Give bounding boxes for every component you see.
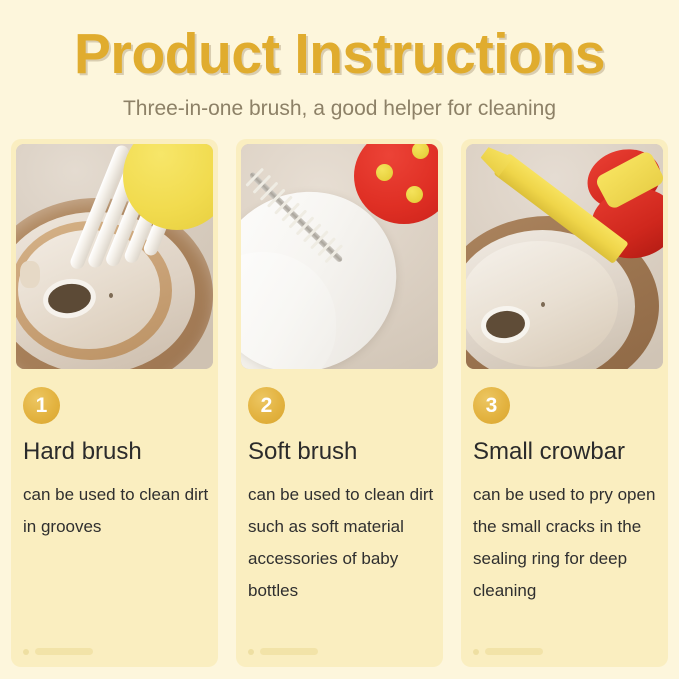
card-title-1: Hard brush	[23, 437, 210, 467]
product-instructions-infographic: Product Instructions Three-in-one brush,…	[0, 0, 679, 679]
footer-bar	[485, 648, 543, 655]
step-badge-3: 3	[473, 387, 510, 424]
card-footer-marker-1	[23, 648, 93, 655]
step-badge-2: 2	[248, 387, 285, 424]
product-photo-hard-brush	[16, 144, 213, 369]
instruction-card-2[interactable]: 2 Soft brush can be used to clean dirt s…	[236, 139, 443, 667]
card-description-2: can be used to clean dirt such as soft m…	[248, 479, 437, 607]
card-footer-marker-2	[248, 648, 318, 655]
card-description-1: can be used to clean dirt in grooves	[23, 479, 212, 543]
instruction-card-3[interactable]: 3 Small crowbar can be used to pry open …	[461, 139, 668, 667]
page-title: Product Instructions	[10, 22, 669, 86]
header: Product Instructions Three-in-one brush,…	[0, 0, 679, 136]
footer-dot-icon	[473, 649, 479, 655]
instruction-card-1[interactable]: 1 Hard brush can be used to clean dirt i…	[11, 139, 218, 667]
card-footer-marker-3	[473, 648, 543, 655]
footer-dot-icon	[23, 649, 29, 655]
card-description-3: can be used to pry open the small cracks…	[473, 479, 662, 607]
footer-bar	[260, 648, 318, 655]
card-title-2: Soft brush	[248, 437, 435, 467]
footer-bar	[35, 648, 93, 655]
footer-dot-icon	[248, 649, 254, 655]
instruction-cards: 1 Hard brush can be used to clean dirt i…	[11, 139, 668, 667]
card-title-3: Small crowbar	[473, 437, 660, 467]
product-photo-small-crowbar	[466, 144, 663, 369]
page-subtitle: Three-in-one brush, a good helper for cl…	[0, 95, 679, 123]
step-badge-1: 1	[23, 387, 60, 424]
product-photo-soft-brush	[241, 144, 438, 369]
